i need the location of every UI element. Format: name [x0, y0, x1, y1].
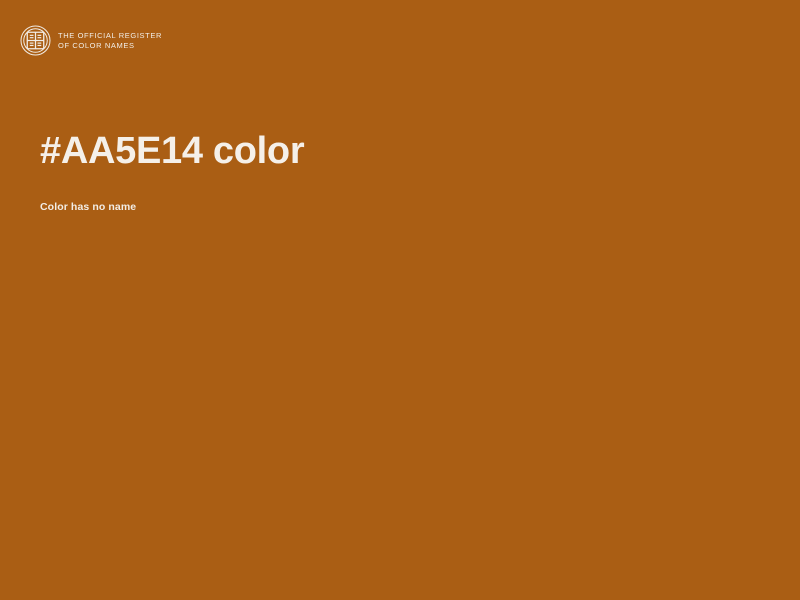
brand-wordmark: THE OFFICIAL REGISTER OF COLOR NAMES	[58, 30, 162, 50]
page-title: #AA5E14 color	[40, 128, 740, 174]
register-seal-icon	[20, 25, 51, 56]
color-info-block: #AA5E14 color Color has no name	[40, 128, 740, 214]
color-name-status: Color has no name	[40, 200, 740, 214]
brand-line-2: OF COLOR NAMES	[58, 41, 162, 51]
brand-line-1: THE OFFICIAL REGISTER	[58, 31, 162, 41]
site-header-brand[interactable]: THE OFFICIAL REGISTER OF COLOR NAMES	[20, 25, 162, 56]
